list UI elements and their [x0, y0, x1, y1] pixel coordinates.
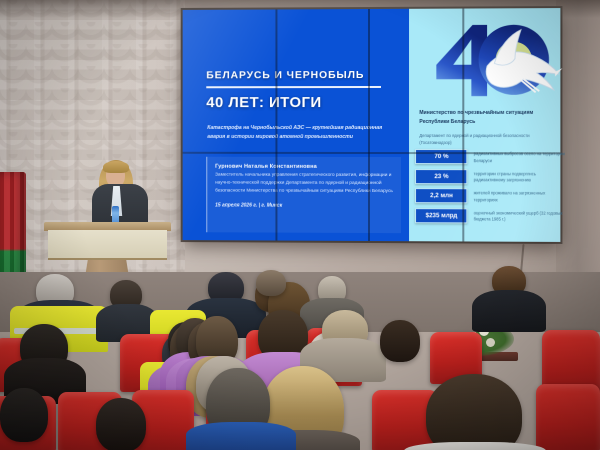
stat-value-chip: 2,2 млн — [415, 188, 467, 203]
audience-head — [256, 270, 286, 296]
video-wall-display[interactable]: БЕЛАРУСЬ И ЧЕРНОБЫЛЬ 40 ЛЕТ: ИТОГИ Катас… — [183, 8, 561, 242]
conference-hall-scene: БЕЛАРУСЬ И ЧЕРНОБЫЛЬ 40 ЛЕТ: ИТОГИ Катас… — [0, 0, 600, 450]
audience-head — [426, 374, 522, 450]
audience-shoulders — [404, 442, 546, 450]
stat-description: жителей проживало на загрязненных террит… — [474, 188, 567, 203]
stat-value-chip: 70 % — [415, 149, 467, 164]
stat-description: радиоактивных выбросов осело на территор… — [474, 149, 567, 164]
slide-headline: 40 ЛЕТ: ИТОГИ — [206, 94, 321, 111]
audience-area — [0, 272, 600, 450]
audience-shoulders — [472, 290, 546, 332]
organization-title: Министерство по чрезвычайным ситуациям Р… — [419, 109, 560, 127]
slide-left-panel: БЕЛАРУСЬ И ЧЕРНОБЫЛЬ 40 ЛЕТ: ИТОГИ Катас… — [183, 9, 410, 241]
stat-row: 70 % радиоактивных выбросов осело на тер… — [415, 149, 566, 164]
presenter-hair-fringe — [103, 161, 129, 173]
slide-kicker: БЕЛАРУСЬ И ЧЕРНОБЫЛЬ — [206, 69, 364, 81]
stat-row: 2,2 млн жителей проживало на загрязненны… — [415, 188, 566, 204]
speaker-info-card: Гурнович Наталья Константиновна Заместит… — [206, 157, 401, 233]
audience-head — [0, 388, 48, 442]
slide-date-location: 15 апреля 2026 г. | г. Минск — [215, 203, 393, 210]
stat-row: 23 % территории страны подверглись радио… — [415, 169, 566, 185]
audience-seat — [536, 384, 600, 450]
slide-right-panel: Министерство по чрезвычайным ситуациям Р… — [409, 8, 560, 242]
speaker-name: Гурнович Наталья Константиновна — [215, 164, 393, 170]
audience-head — [96, 398, 146, 450]
statistics-list: 70 % радиоактивных выбросов осело на тер… — [415, 149, 566, 228]
stat-description: оценочный экономический ущерб (32 годовы… — [474, 208, 567, 224]
stat-value-chip: $235 млрд — [415, 208, 467, 223]
logo-area — [415, 12, 566, 109]
anniversary-40-dove-icon — [429, 14, 562, 109]
audience-shoulders — [186, 422, 296, 450]
stat-value-chip: 23 % — [415, 169, 467, 184]
speaker-role: Заместитель начальника управления страте… — [215, 172, 393, 197]
stat-description: территории страны подверглись радиоактив… — [474, 169, 567, 184]
stat-row: $235 млрд оценочный экономический ущерб … — [415, 208, 566, 224]
organization-subtitle: Департамент по ядерной и радиационной бе… — [419, 132, 562, 146]
audience-head — [380, 320, 420, 362]
slide-divider-rule — [206, 86, 381, 88]
slide-subline: Катастрофа на Чернобыльской АЭС — крупне… — [207, 124, 388, 141]
podium-front-panel — [48, 230, 167, 260]
